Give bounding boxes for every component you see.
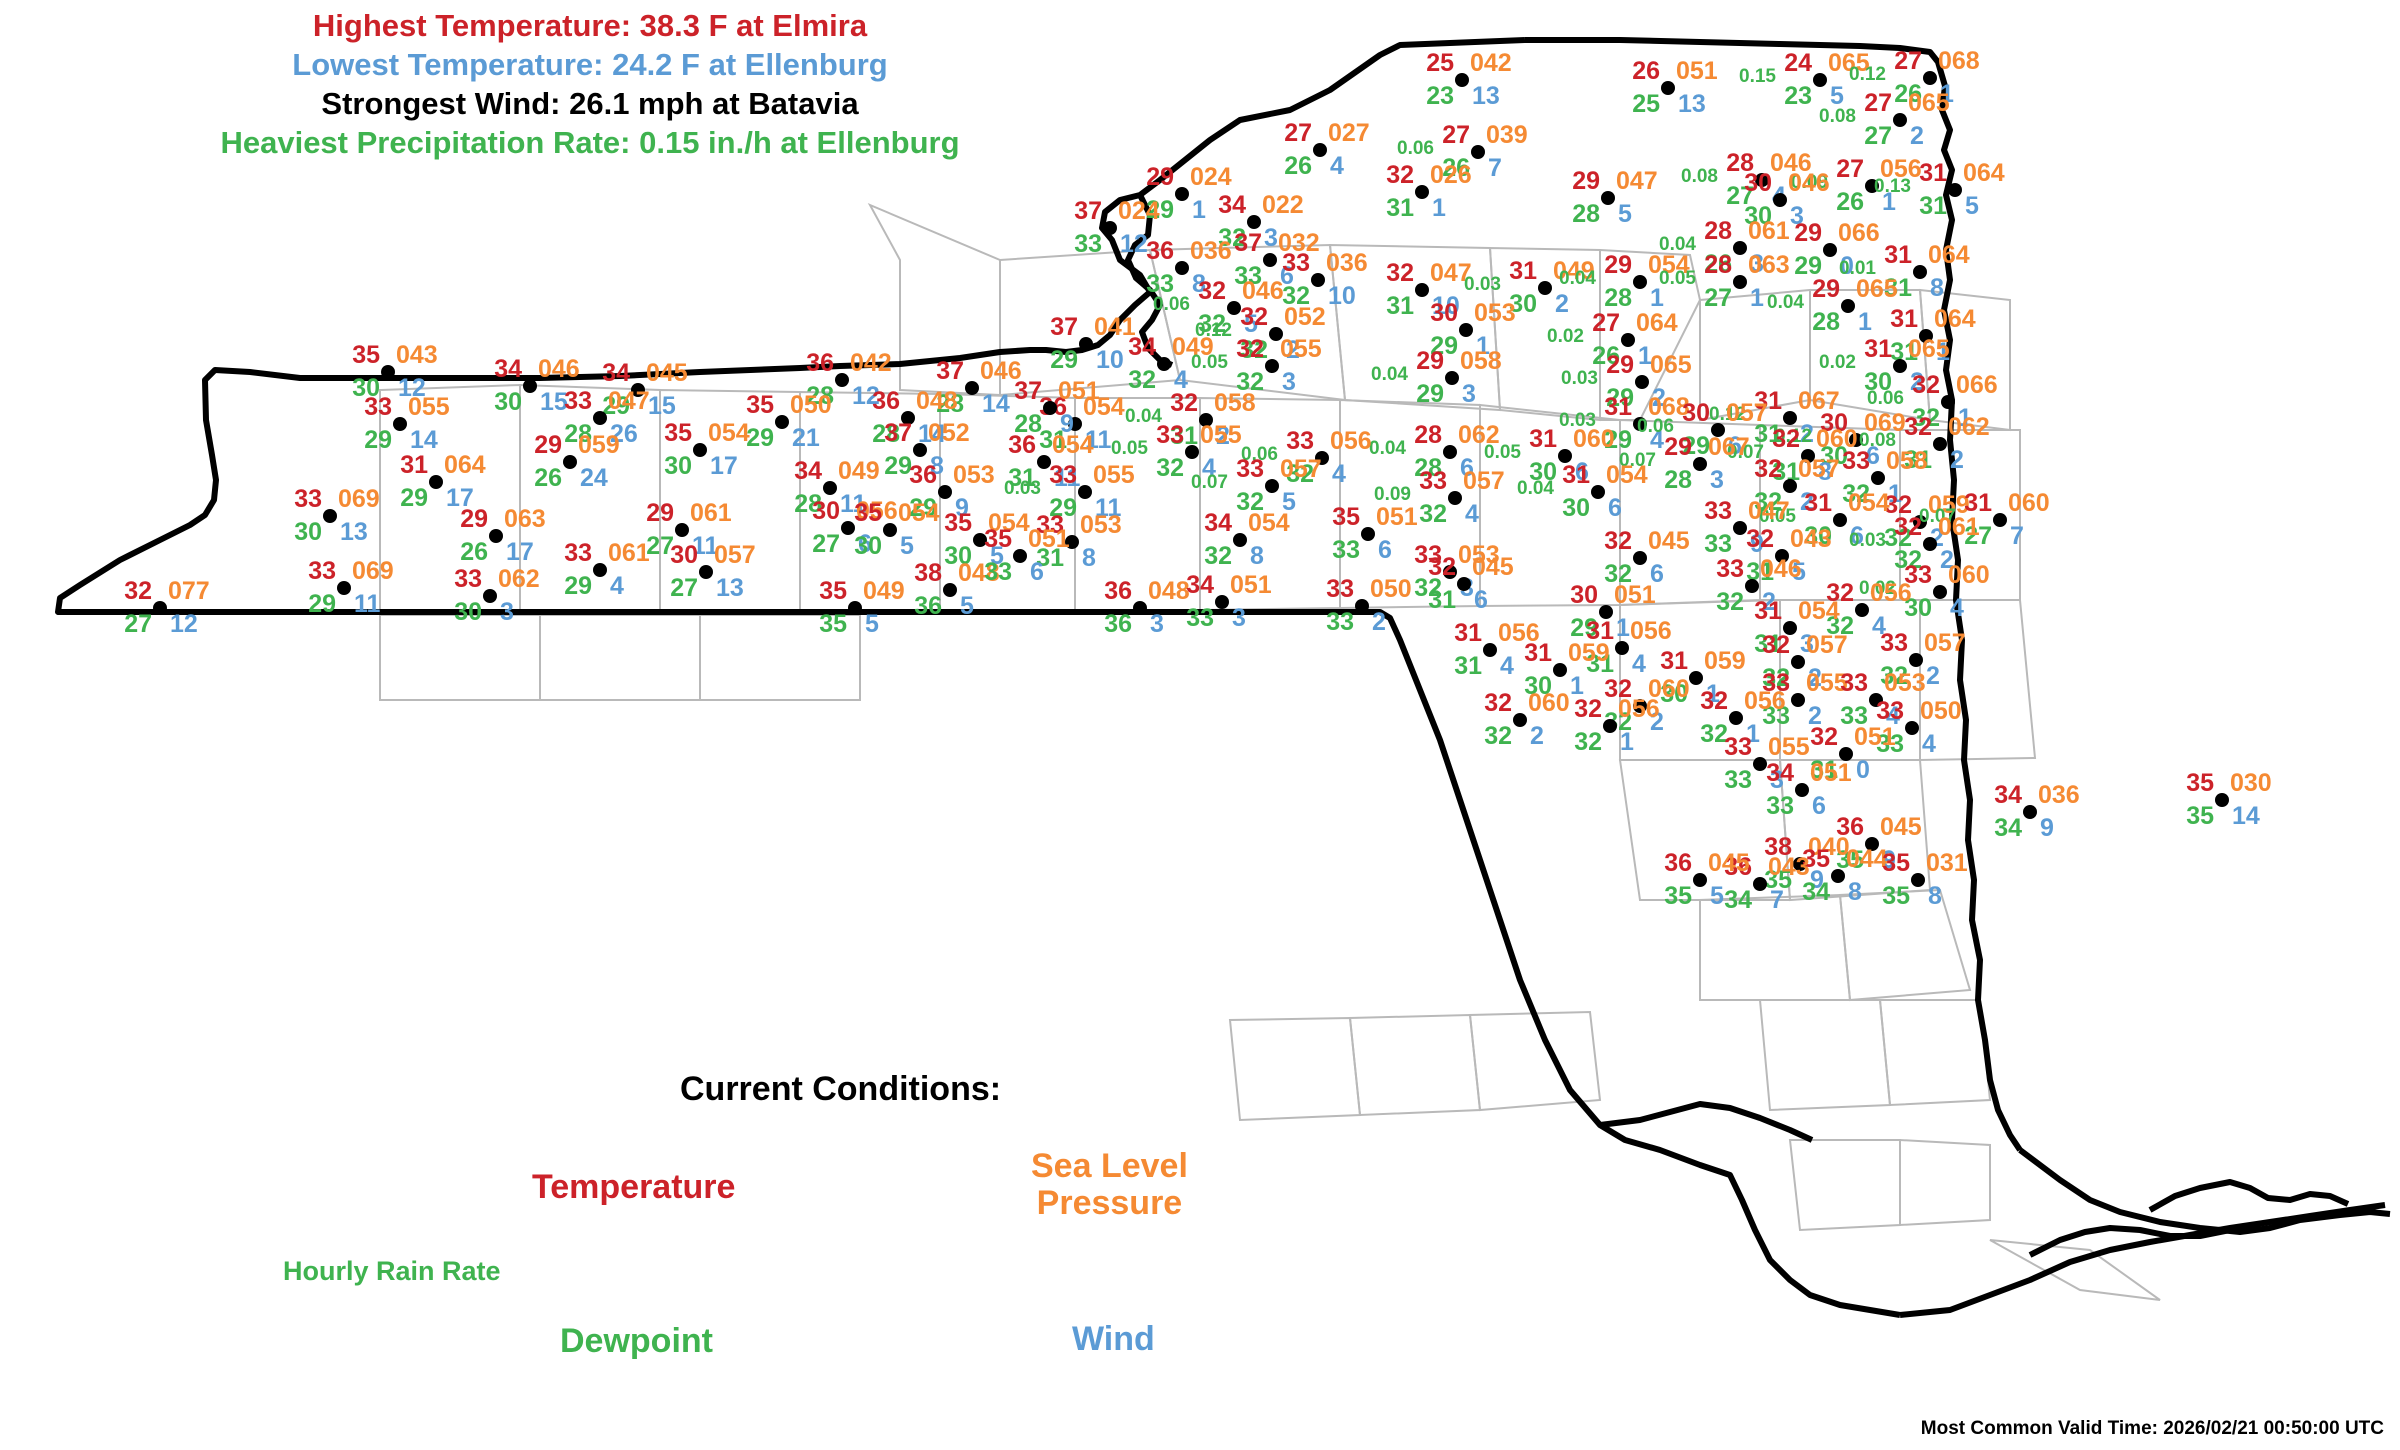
station-temperature: 31 (1562, 463, 1590, 488)
station-sea-level-pressure: 059 (1568, 641, 1610, 666)
station-wind: 1 (1620, 730, 1634, 755)
station-sea-level-pressure: 045 (646, 361, 688, 386)
station-dewpoint: 31 (1386, 196, 1414, 221)
station-sea-level-pressure: 051 (1058, 379, 1100, 404)
station-wind: 4 (1330, 154, 1344, 179)
station-wind: 4 (1500, 654, 1514, 679)
station-marker-icon (1783, 479, 1797, 493)
station-wind: 2 (1372, 610, 1386, 635)
station-dewpoint: 33 (1766, 794, 1794, 819)
station-dewpoint: 35 (1882, 884, 1910, 909)
station-sea-level-pressure: 056 (1630, 619, 1672, 644)
station-temperature: 29 (1604, 253, 1632, 278)
station-marker-icon (2215, 793, 2229, 807)
station-marker-icon (1311, 273, 1325, 287)
station-marker-icon (1079, 337, 1093, 351)
station-sea-level-pressure: 055 (408, 395, 450, 420)
station-marker-icon (1773, 193, 1787, 207)
station-dewpoint: 23 (1784, 84, 1812, 109)
station-temperature: 32 (1894, 515, 1922, 540)
station-marker-icon (337, 581, 351, 595)
station-dewpoint: 27 (812, 532, 840, 557)
station-sea-level-pressure: 036 (1326, 251, 1368, 276)
station-marker-icon (1459, 323, 1473, 337)
station-sea-level-pressure: 065 (1908, 91, 1950, 116)
station-temperature: 37 (884, 421, 912, 446)
station-wind: 5 (1965, 194, 1979, 219)
station-marker-icon (675, 523, 689, 537)
station-marker-icon (1103, 221, 1117, 235)
station-marker-icon (1733, 521, 1747, 535)
station-dewpoint: 36 (914, 594, 942, 619)
station-wind: 1 (1650, 286, 1664, 311)
station-marker-icon (835, 373, 849, 387)
station-sea-level-pressure: 061 (1748, 219, 1790, 244)
station-temperature: 33 (294, 487, 322, 512)
station-wind: 4 (1465, 502, 1479, 527)
station-marker-icon (1993, 513, 2007, 527)
headline-strongest-wind: Strongest Wind: 26.1 mph at Batavia (0, 84, 1180, 123)
station-temperature: 33 (1326, 577, 1354, 602)
station-dewpoint: 30 (1562, 496, 1590, 521)
station-temperature: 32 (1386, 163, 1414, 188)
station-marker-icon (1603, 719, 1617, 733)
station-marker-icon (393, 417, 407, 431)
station-sea-level-pressure: 050 (1920, 699, 1962, 724)
station-temperature: 27 (1894, 49, 1922, 74)
station-dewpoint: 28 (1604, 286, 1632, 311)
station-dewpoint: 33 (1332, 538, 1360, 563)
station-temperature: 32 (124, 579, 152, 604)
station-sea-level-pressure: 064 (1934, 307, 1976, 332)
station-temperature: 27 (1442, 123, 1470, 148)
station-dewpoint: 27 (1704, 286, 1732, 311)
station-sea-level-pressure: 066 (1838, 221, 1880, 246)
station-temperature: 36 (806, 351, 834, 376)
station-temperature: 32 (1912, 373, 1940, 398)
station-wind: 6 (1608, 496, 1622, 521)
station-marker-icon (489, 529, 503, 543)
station-temperature: 33 (1716, 557, 1744, 582)
station-dewpoint: 30 (294, 520, 322, 545)
station-rain-rate: 0.05 (1659, 269, 1696, 288)
station-marker-icon (1615, 641, 1629, 655)
station-wind: 17 (506, 540, 534, 565)
station-temperature: 37 (1234, 231, 1262, 256)
station-temperature: 31 (1754, 599, 1782, 624)
station-temperature: 33 (1156, 423, 1184, 448)
station-marker-icon (1795, 783, 1809, 797)
station-rain-rate: 0.08 (1681, 167, 1718, 186)
station-temperature: 33 (308, 559, 336, 584)
station-sea-level-pressure: 051 (1230, 573, 1272, 598)
station-marker-icon (1013, 549, 1027, 563)
station-temperature: 36 (1104, 579, 1132, 604)
station-sea-level-pressure: 066 (1956, 373, 1998, 398)
station-temperature: 31 (1529, 427, 1557, 452)
station-temperature: 30 (1430, 301, 1458, 326)
station-wind: 3 (1282, 370, 1296, 395)
station-dewpoint: 30 (854, 534, 882, 559)
station-sea-level-pressure: 056 (1618, 697, 1660, 722)
station-temperature: 30 (1744, 171, 1772, 196)
station-wind: 2 (1555, 292, 1569, 317)
station-sea-level-pressure: 055 (1093, 463, 1135, 488)
station-dewpoint: 32 (1574, 730, 1602, 755)
station-rain-rate: 0.04 (1559, 269, 1596, 288)
station-sea-level-pressure: 063 (1748, 253, 1790, 278)
station-temperature: 25 (1426, 51, 1454, 76)
station-dewpoint: 29 (308, 592, 336, 617)
station-dewpoint: 25 (1632, 92, 1660, 117)
legend-slp-line1: Sea Level (1031, 1148, 1188, 1185)
station-sea-level-pressure: 064 (1636, 311, 1678, 336)
station-dewpoint: 34 (1802, 880, 1830, 905)
station-dewpoint: 29 (400, 486, 428, 511)
legend-temperature-label: Temperature (532, 1168, 735, 1207)
station-sea-level-pressure: 058 (1460, 349, 1502, 374)
station-wind: 8 (1082, 546, 1096, 571)
station-temperature: 35 (352, 343, 380, 368)
station-wind: 8 (1250, 544, 1264, 569)
station-marker-icon (1263, 253, 1277, 267)
station-temperature: 33 (1419, 469, 1447, 494)
station-marker-icon (693, 443, 707, 457)
station-sea-level-pressure: 057 (1924, 631, 1966, 656)
station-wind: 13 (716, 576, 744, 601)
station-sea-level-pressure: 047 (608, 389, 650, 414)
station-temperature: 35 (854, 501, 882, 526)
station-dewpoint: 35 (819, 612, 847, 637)
station-marker-icon (1415, 185, 1429, 199)
station-dewpoint: 34 (1724, 888, 1752, 913)
station-marker-icon (1813, 73, 1827, 87)
station-sea-level-pressure: 057 (1463, 469, 1505, 494)
station-wind: 6 (1812, 794, 1826, 819)
station-sea-level-pressure: 053 (1884, 671, 1926, 696)
station-sea-level-pressure: 042 (1470, 51, 1512, 76)
station-rain-rate: 0.02 (1819, 353, 1856, 372)
station-temperature: 33 (1704, 499, 1732, 524)
station-wind: 4 (610, 574, 624, 599)
station-marker-icon (841, 521, 855, 535)
station-temperature: 29 (1146, 165, 1174, 190)
station-wind: 3 (1150, 612, 1164, 637)
station-temperature: 36 (1664, 851, 1692, 876)
station-temperature: 31 (1890, 307, 1918, 332)
station-temperature: 34 (1186, 573, 1214, 598)
station-dewpoint: 35 (1664, 884, 1692, 909)
station-marker-icon (1893, 359, 1907, 373)
station-wind: 1 (1750, 286, 1764, 311)
station-marker-icon (848, 601, 862, 615)
station-temperature: 31 (1604, 395, 1632, 420)
station-wind: 17 (710, 454, 738, 479)
station-sea-level-pressure: 061 (690, 501, 732, 526)
station-sea-level-pressure: 059 (1704, 649, 1746, 674)
station-temperature: 31 (1864, 337, 1892, 362)
station-rain-rate: 0.08 (1819, 107, 1856, 126)
station-sea-level-pressure: 057 (1798, 457, 1840, 482)
station-dewpoint: 33 (984, 560, 1012, 585)
station-temperature: 33 (1236, 457, 1264, 482)
station-dewpoint: 33 (1326, 610, 1354, 635)
station-wind: 12 (1120, 232, 1148, 257)
station-marker-icon (1791, 655, 1805, 669)
station-temperature: 36 (1008, 433, 1036, 458)
station-marker-icon (1591, 485, 1605, 499)
station-wind: 2 (1926, 664, 1940, 689)
station-sea-level-pressure: 057 (1806, 633, 1848, 658)
station-dewpoint: 34 (1994, 816, 2022, 841)
station-temperature: 34 (494, 357, 522, 382)
station-wind: 15 (648, 394, 676, 419)
station-marker-icon (1265, 359, 1279, 373)
station-temperature: 30 (1570, 583, 1598, 608)
station-sea-level-pressure: 064 (1928, 243, 1970, 268)
station-marker-icon (1753, 877, 1767, 891)
station-wind: 13 (340, 520, 368, 545)
station-dewpoint: 31 (1386, 294, 1414, 319)
station-temperature: 33 (1724, 735, 1752, 760)
station-marker-icon (1265, 479, 1279, 493)
station-sea-level-pressure: 050 (1370, 577, 1412, 602)
station-dewpoint: 33 (1724, 768, 1752, 793)
station-sea-level-pressure: 046 (538, 357, 580, 382)
station-sea-level-pressure: 063 (504, 507, 546, 532)
station-dewpoint: 30 (664, 454, 692, 479)
headline-heaviest-precip: Heaviest Precipitation Rate: 0.15 in./h … (0, 123, 1180, 162)
station-temperature: 32 (1810, 725, 1838, 750)
station-marker-icon (1911, 873, 1925, 887)
station-sea-level-pressure: 027 (1328, 121, 1370, 146)
station-rain-rate: 0.07 (1191, 473, 1228, 492)
legend-title: Current Conditions: (680, 1070, 1001, 1109)
station-marker-icon (593, 411, 607, 425)
station-marker-icon (1783, 411, 1797, 425)
station-temperature: 36 (872, 389, 900, 414)
station-marker-icon (593, 563, 607, 577)
station-dewpoint: 36 (1104, 612, 1132, 637)
station-sea-level-pressure: 043 (396, 343, 438, 368)
station-sea-level-pressure: 048 (916, 389, 958, 414)
station-wind: 4 (1332, 462, 1346, 487)
legend-sea-level-pressure-label: Sea Level Pressure (1031, 1148, 1188, 1222)
station-dewpoint: 33 (1704, 532, 1732, 557)
station-rain-rate: 0.06 (1153, 295, 1190, 314)
station-marker-icon (1633, 551, 1647, 565)
station-rain-rate: 0.06 (1397, 139, 1434, 158)
station-sea-level-pressure: 045 (1880, 815, 1922, 840)
station-marker-icon (1693, 457, 1707, 471)
station-temperature: 30 (812, 499, 840, 524)
station-marker-icon (429, 475, 443, 489)
station-dewpoint: 29 (564, 574, 592, 599)
headline-highest-temperature: Highest Temperature: 38.3 F at Elmira (0, 6, 1180, 45)
station-temperature: 29 (1812, 277, 1840, 302)
station-marker-icon (1913, 265, 1927, 279)
station-wind: 4 (1922, 732, 1936, 757)
station-temperature: 29 (534, 433, 562, 458)
station-temperature: 37 (936, 359, 964, 384)
station-temperature: 33 (1840, 671, 1868, 696)
station-wind: 21 (792, 426, 820, 451)
station-temperature: 28 (1704, 219, 1732, 244)
station-sea-level-pressure: 047 (1616, 169, 1658, 194)
station-marker-icon (1733, 275, 1747, 289)
station-dewpoint: 23 (1426, 84, 1454, 109)
headline-lowest-temperature: Lowest Temperature: 24.2 F at Ellenburg (0, 45, 1180, 84)
station-wind: 2 (1950, 448, 1964, 473)
station-rain-rate: 0.12 (1849, 65, 1886, 84)
station-wind: 3 (1232, 606, 1246, 631)
station-sea-level-pressure: 077 (168, 579, 210, 604)
station-dewpoint: 29 (884, 454, 912, 479)
station-marker-icon (1448, 491, 1462, 505)
station-wind: 13 (1472, 84, 1500, 109)
station-temperature: 32 (1236, 337, 1264, 362)
station-sea-level-pressure: 051 (1854, 725, 1896, 750)
station-marker-icon (1443, 445, 1457, 459)
station-temperature: 35 (944, 511, 972, 536)
station-temperature: 37 (1074, 199, 1102, 224)
station-rain-rate: 0.04 (1517, 479, 1554, 498)
station-marker-icon (965, 381, 979, 395)
station-temperature: 27 (1836, 157, 1864, 182)
station-sea-level-pressure: 055 (1200, 423, 1242, 448)
station-marker-icon (1948, 183, 1962, 197)
station-sea-level-pressure: 060 (2008, 491, 2050, 516)
station-wind: 3 (500, 600, 514, 625)
station-dewpoint: 31 (1428, 588, 1456, 613)
station-marker-icon (1923, 71, 1937, 85)
station-dewpoint: 30 (454, 600, 482, 625)
station-marker-icon (1933, 585, 1947, 599)
station-sea-level-pressure: 051 (1614, 583, 1656, 608)
station-wind: 14 (410, 428, 438, 453)
valid-time-label: Most Common Valid Time: 2026/02/21 00:50… (1921, 1418, 2384, 1440)
station-sea-level-pressure: 039 (1486, 123, 1528, 148)
station-marker-icon (381, 365, 395, 379)
station-temperature: 32 (1484, 691, 1512, 716)
station-sea-level-pressure: 060 (1573, 427, 1615, 452)
station-marker-icon (938, 485, 952, 499)
station-sea-level-pressure: 065 (1856, 277, 1898, 302)
station-rain-rate: 0.03 (1464, 275, 1501, 294)
station-temperature: 27 (1864, 91, 1892, 116)
station-sea-level-pressure: 046 (1242, 279, 1284, 304)
station-dewpoint: 27 (1864, 124, 1892, 149)
station-rain-rate: 0.04 (1767, 293, 1804, 312)
station-sea-level-pressure: 043 (1790, 527, 1832, 552)
station-sea-level-pressure: 045 (1708, 851, 1750, 876)
station-temperature: 32 (1428, 555, 1456, 580)
station-marker-icon (1078, 485, 1092, 499)
station-temperature: 35 (819, 579, 847, 604)
station-marker-icon (1553, 663, 1567, 677)
station-wind: 8 (1928, 884, 1942, 909)
station-dewpoint: 32 (1204, 544, 1232, 569)
station-sea-level-pressure: 049 (838, 459, 880, 484)
legend-wind-label: Wind (1072, 1320, 1155, 1359)
station-sea-level-pressure: 048 (1148, 579, 1190, 604)
station-wind: 4 (1632, 652, 1646, 677)
station-marker-icon (1043, 401, 1057, 415)
station-marker-icon (1621, 333, 1635, 347)
station-temperature: 36 (1146, 239, 1174, 264)
station-wind: 12 (170, 612, 198, 637)
station-sea-level-pressure: 024 (1118, 199, 1160, 224)
station-marker-icon (1601, 191, 1615, 205)
station-temperature: 32 (1754, 457, 1782, 482)
station-sea-level-pressure: 055 (1280, 337, 1322, 362)
station-sea-level-pressure: 022 (1262, 193, 1304, 218)
station-wind: 1 (1616, 616, 1630, 641)
station-sea-level-pressure: 047 (1748, 499, 1790, 524)
station-marker-icon (1909, 653, 1923, 667)
station-temperature: 33 (1876, 699, 1904, 724)
station-dewpoint: 26 (460, 540, 488, 565)
station-wind: 11 (354, 592, 380, 617)
station-wind: 9 (2040, 816, 2054, 841)
station-temperature: 34 (1128, 335, 1156, 360)
station-rain-rate: 0.05 (1191, 353, 1228, 372)
station-dewpoint: 28 (1664, 468, 1692, 493)
station-wind: 7 (1770, 888, 1784, 913)
station-sea-level-pressure: 057 (1726, 401, 1768, 426)
station-marker-icon (1905, 721, 1919, 735)
station-temperature: 31 (1524, 641, 1552, 666)
station-temperature: 32 (1240, 305, 1268, 330)
station-marker-icon (1871, 471, 1885, 485)
station-rain-rate: 0.13 (1874, 177, 1911, 196)
station-sea-level-pressure: 053 (1474, 301, 1516, 326)
station-sea-level-pressure: 054 (898, 501, 940, 526)
station-sea-level-pressure: 053 (1080, 513, 1122, 538)
station-sea-level-pressure: 061 (1938, 515, 1980, 540)
station-sea-level-pressure: 056 (1330, 429, 1372, 454)
station-sea-level-pressure: 061 (608, 541, 650, 566)
station-sea-level-pressure: 046 (1760, 557, 1802, 582)
station-marker-icon (823, 481, 837, 495)
station-sea-level-pressure: 026 (1430, 163, 1472, 188)
station-temperature: 33 (1049, 463, 1077, 488)
station-wind: 8 (1848, 880, 1862, 905)
station-sea-level-pressure: 045 (1472, 555, 1514, 580)
station-wind: 3 (1462, 382, 1476, 407)
station-dewpoint: 35 (2186, 804, 2214, 829)
station-rain-rate: 0.06 (1867, 389, 1904, 408)
station-sea-level-pressure: 051 (1028, 527, 1070, 552)
station-marker-icon (323, 509, 337, 523)
station-sea-level-pressure: 036 (1190, 239, 1232, 264)
station-marker-icon (1633, 275, 1647, 289)
station-sea-level-pressure: 057 (1280, 457, 1322, 482)
station-wind: 10 (1096, 348, 1124, 373)
station-dewpoint: 29 (364, 428, 392, 453)
station-temperature: 31 (1804, 491, 1832, 516)
station-sea-level-pressure: 052 (1284, 305, 1326, 330)
station-marker-icon (1833, 513, 1847, 527)
station-marker-icon (1471, 145, 1485, 159)
station-sea-level-pressure: 062 (1948, 415, 1990, 440)
station-marker-icon (1729, 711, 1743, 725)
station-wind: 3 (1710, 468, 1724, 493)
station-temperature: 31 (1660, 649, 1688, 674)
station-marker-icon (1538, 281, 1552, 295)
station-temperature: 31 (1884, 243, 1912, 268)
station-temperature: 35 (984, 527, 1012, 552)
